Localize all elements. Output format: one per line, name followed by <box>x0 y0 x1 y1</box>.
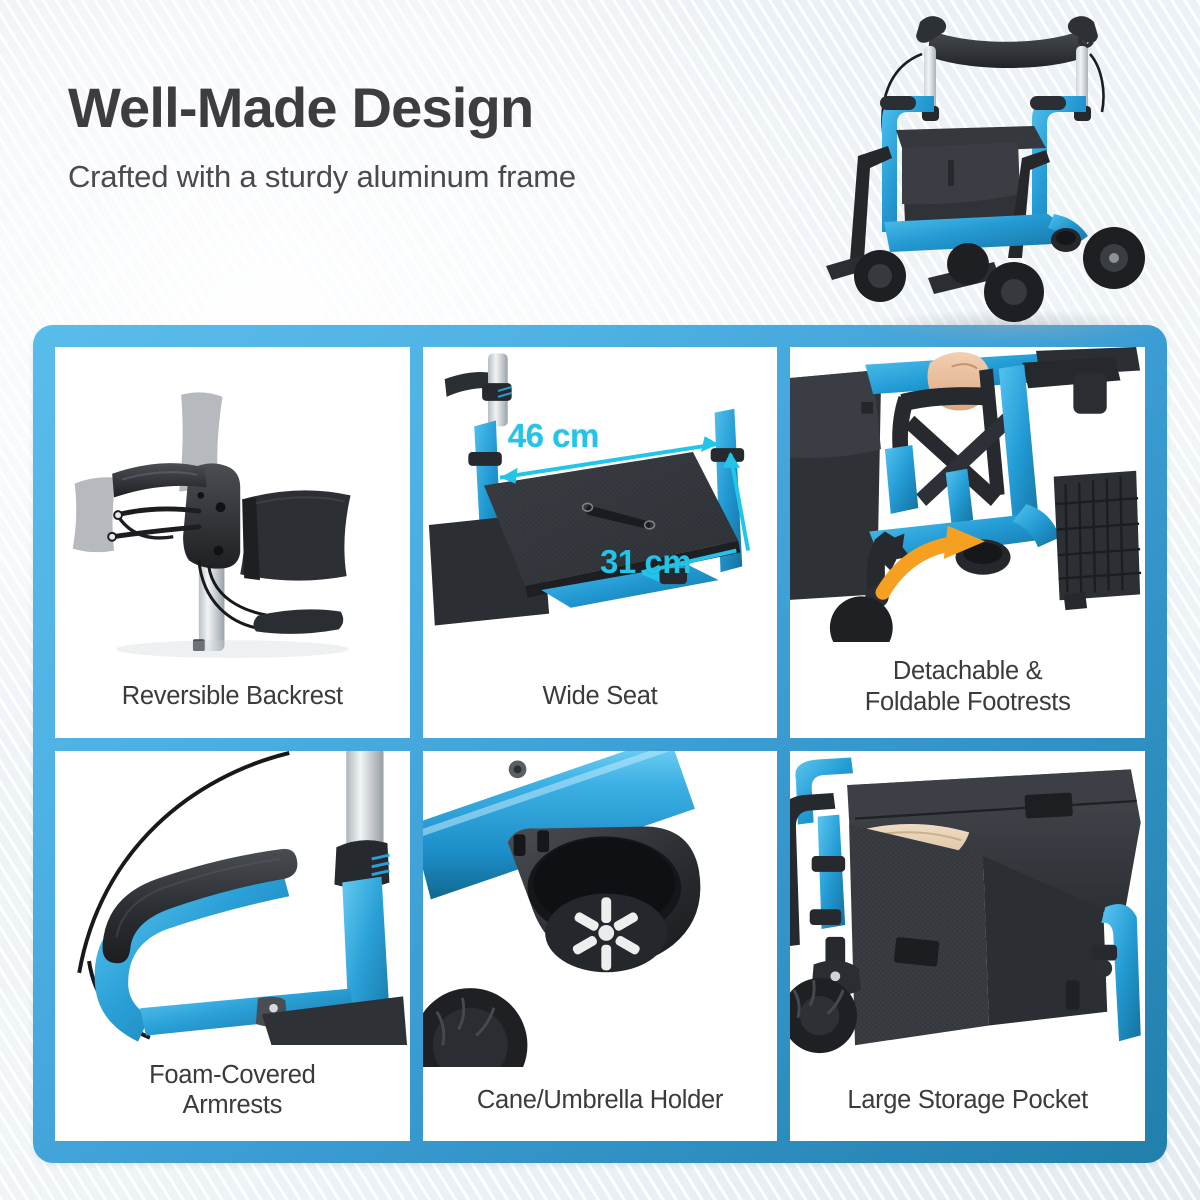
feature-caption-foam-covered-armrests: Foam-Covered Armrests <box>55 1045 410 1141</box>
feature-caption-wide-seat: Wide Seat <box>423 664 778 738</box>
feature-card-foam-covered-armrests[interactable]: Foam-Covered Armrests <box>55 751 410 1142</box>
armrests-caption-line-2: Armrests <box>183 1091 283 1119</box>
feature-caption-detachable-foldable-footrests: Detachable & Foldable Footrests <box>790 642 1145 738</box>
seat-depth-dimension: 31 cm <box>600 543 691 581</box>
feature-card-large-storage-pocket[interactable]: Large Storage Pocket <box>790 751 1145 1142</box>
feature-card-wide-seat[interactable]: 46 cm 31 cm Wide Seat <box>423 347 778 738</box>
reversible-backrest-photo <box>55 347 410 664</box>
seat-width-dimension: 46 cm <box>508 417 599 455</box>
feature-caption-large-storage-pocket: Large Storage Pocket <box>790 1067 1145 1141</box>
wide-seat-photo: 46 cm 31 cm <box>423 347 778 664</box>
page-title: Well-Made Design <box>68 78 576 137</box>
large-storage-pocket-photo <box>790 751 1145 1068</box>
foam-covered-armrests-photo <box>55 751 410 1046</box>
page-subtitle: Crafted with a sturdy aluminum frame <box>68 159 576 195</box>
feature-caption-cane-umbrella-holder: Cane/Umbrella Holder <box>423 1067 778 1141</box>
feature-caption-reversible-backrest: Reversible Backrest <box>55 664 410 738</box>
feature-grid-frame: Reversible Backrest <box>33 325 1167 1163</box>
header: Well-Made Design Crafted with a sturdy a… <box>68 78 576 195</box>
feature-grid: Reversible Backrest <box>55 347 1145 1141</box>
feature-card-reversible-backrest[interactable]: Reversible Backrest <box>55 347 410 738</box>
feature-card-detachable-foldable-footrests[interactable]: Detachable & Foldable Footrests <box>790 347 1145 738</box>
hero-product-image <box>818 8 1196 343</box>
armrests-caption-line-1: Foam-Covered <box>149 1061 315 1089</box>
footrests-caption-line-1: Detachable & <box>893 657 1043 685</box>
feature-card-cane-umbrella-holder[interactable]: Cane/Umbrella Holder <box>423 751 778 1142</box>
cane-umbrella-holder-photo <box>423 751 778 1068</box>
footrests-caption-line-2: Foldable Footrests <box>865 688 1071 716</box>
detachable-foldable-footrests-photo <box>790 347 1145 642</box>
